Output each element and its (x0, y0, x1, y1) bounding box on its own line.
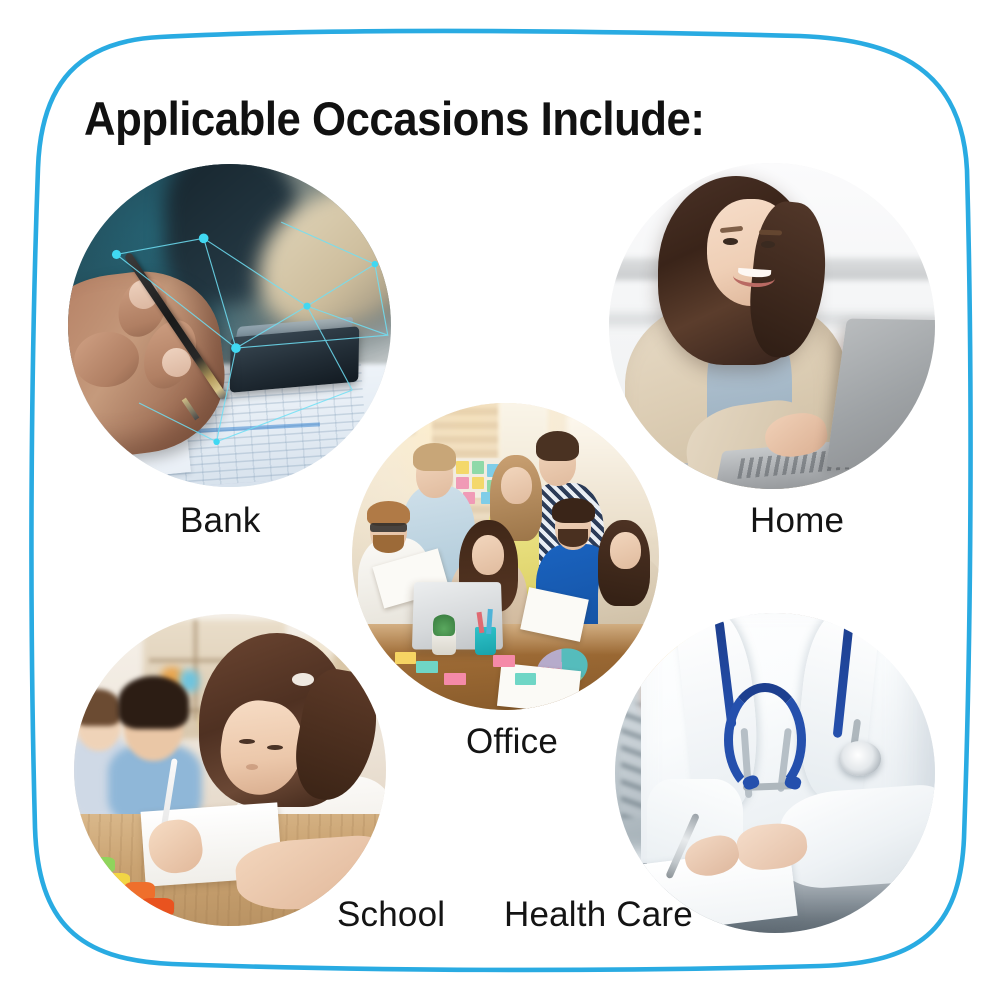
occasion-label-home: Home (750, 501, 844, 541)
office-bar-chart (352, 403, 415, 436)
occasion-label-health-care: Health Care (504, 895, 693, 935)
data-network-overlay (68, 164, 391, 487)
occasion-label-school: School (337, 895, 445, 935)
occasion-label-office: Office (466, 722, 558, 762)
occasion-image-health-care (615, 613, 935, 933)
occasion-image-bank (68, 164, 391, 487)
occasion-image-office (352, 403, 659, 710)
page-title: Applicable Occasions Include: (84, 91, 704, 146)
occasions-poster: Applicable Occasions Include: (0, 0, 1000, 1000)
occasion-image-school (74, 614, 386, 926)
occasion-label-bank: Bank (180, 501, 261, 541)
